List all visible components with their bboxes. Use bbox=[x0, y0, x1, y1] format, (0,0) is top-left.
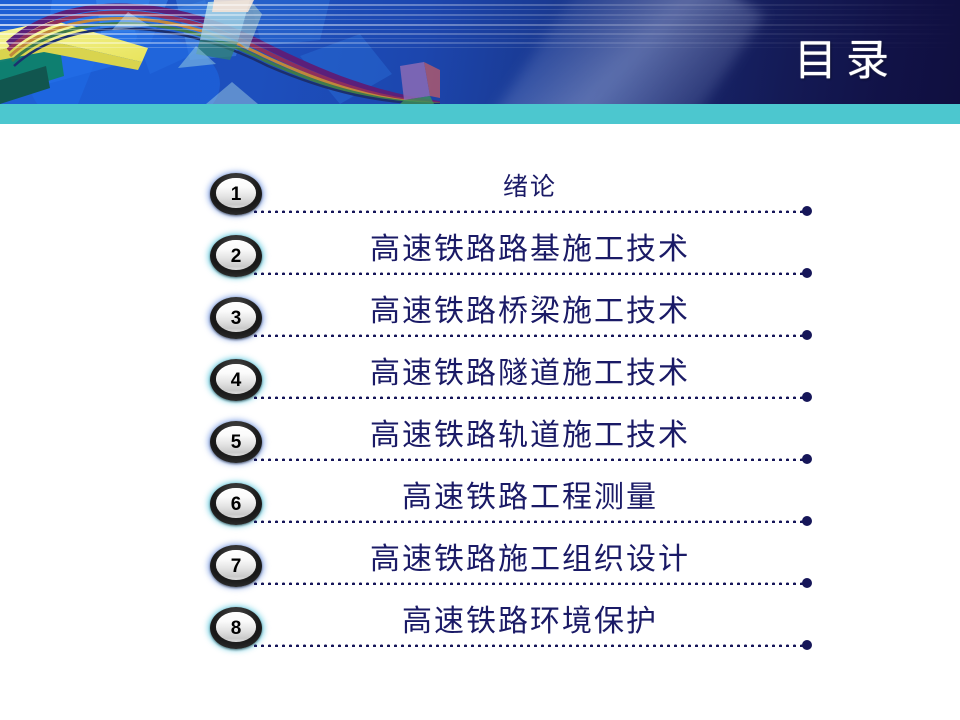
toc-item-number: 8 bbox=[231, 619, 242, 638]
badge-face: 6 bbox=[216, 488, 256, 518]
toc-item-label[interactable]: 高速铁路桥梁施工技术 bbox=[252, 290, 808, 334]
badge-face: 5 bbox=[216, 426, 256, 456]
toc-item-number: 4 bbox=[231, 371, 242, 390]
toc-item-label[interactable]: 高速铁路环境保护 bbox=[252, 600, 808, 644]
badge-face: 3 bbox=[216, 302, 256, 332]
badge-face: 8 bbox=[216, 612, 256, 642]
badge-face: 4 bbox=[216, 364, 256, 394]
toc-item[interactable]: 7高速铁路施工组织设计 bbox=[0, 538, 960, 600]
toc-item-number: 2 bbox=[231, 247, 242, 266]
toc-item-number: 3 bbox=[231, 309, 242, 328]
toc-item-label[interactable]: 高速铁路工程测量 bbox=[252, 476, 808, 520]
abstract-decoration-graphic bbox=[0, 0, 440, 104]
toc-item-label[interactable]: 高速铁路路基施工技术 bbox=[252, 228, 808, 272]
toc-item[interactable]: 4高速铁路隧道施工技术 bbox=[0, 352, 960, 414]
toc-item-label[interactable]: 绪论 bbox=[252, 166, 808, 210]
toc-item[interactable]: 5高速铁路轨道施工技术 bbox=[0, 414, 960, 476]
badge-face: 7 bbox=[216, 550, 256, 580]
toc-item[interactable]: 1绪论 bbox=[0, 166, 960, 228]
toc-item-number: 7 bbox=[231, 557, 242, 576]
toc-item[interactable]: 2高速铁路路基施工技术 bbox=[0, 228, 960, 290]
badge-face: 1 bbox=[216, 178, 256, 208]
toc-item-label[interactable]: 高速铁路施工组织设计 bbox=[252, 538, 808, 582]
toc-item-number: 6 bbox=[231, 495, 242, 514]
toc-item-label[interactable]: 高速铁路轨道施工技术 bbox=[252, 414, 808, 458]
page-title: 目录 bbox=[794, 26, 898, 88]
toc-item-label[interactable]: 高速铁路隧道施工技术 bbox=[252, 352, 808, 396]
slide-header-banner: 目录 bbox=[0, 0, 960, 104]
toc-item[interactable]: 3高速铁路桥梁施工技术 bbox=[0, 290, 960, 352]
toc-item[interactable]: 6高速铁路工程测量 bbox=[0, 476, 960, 538]
badge-face: 2 bbox=[216, 240, 256, 270]
banner-light-streak bbox=[445, 0, 765, 104]
teal-divider-bar bbox=[0, 104, 960, 124]
toc-item[interactable]: 8高速铁路环境保护 bbox=[0, 600, 960, 662]
toc-item-number: 5 bbox=[231, 433, 242, 452]
table-of-contents: 1绪论2高速铁路路基施工技术3高速铁路桥梁施工技术4高速铁路隧道施工技术5高速铁… bbox=[0, 166, 960, 662]
toc-item-number: 1 bbox=[231, 185, 242, 204]
